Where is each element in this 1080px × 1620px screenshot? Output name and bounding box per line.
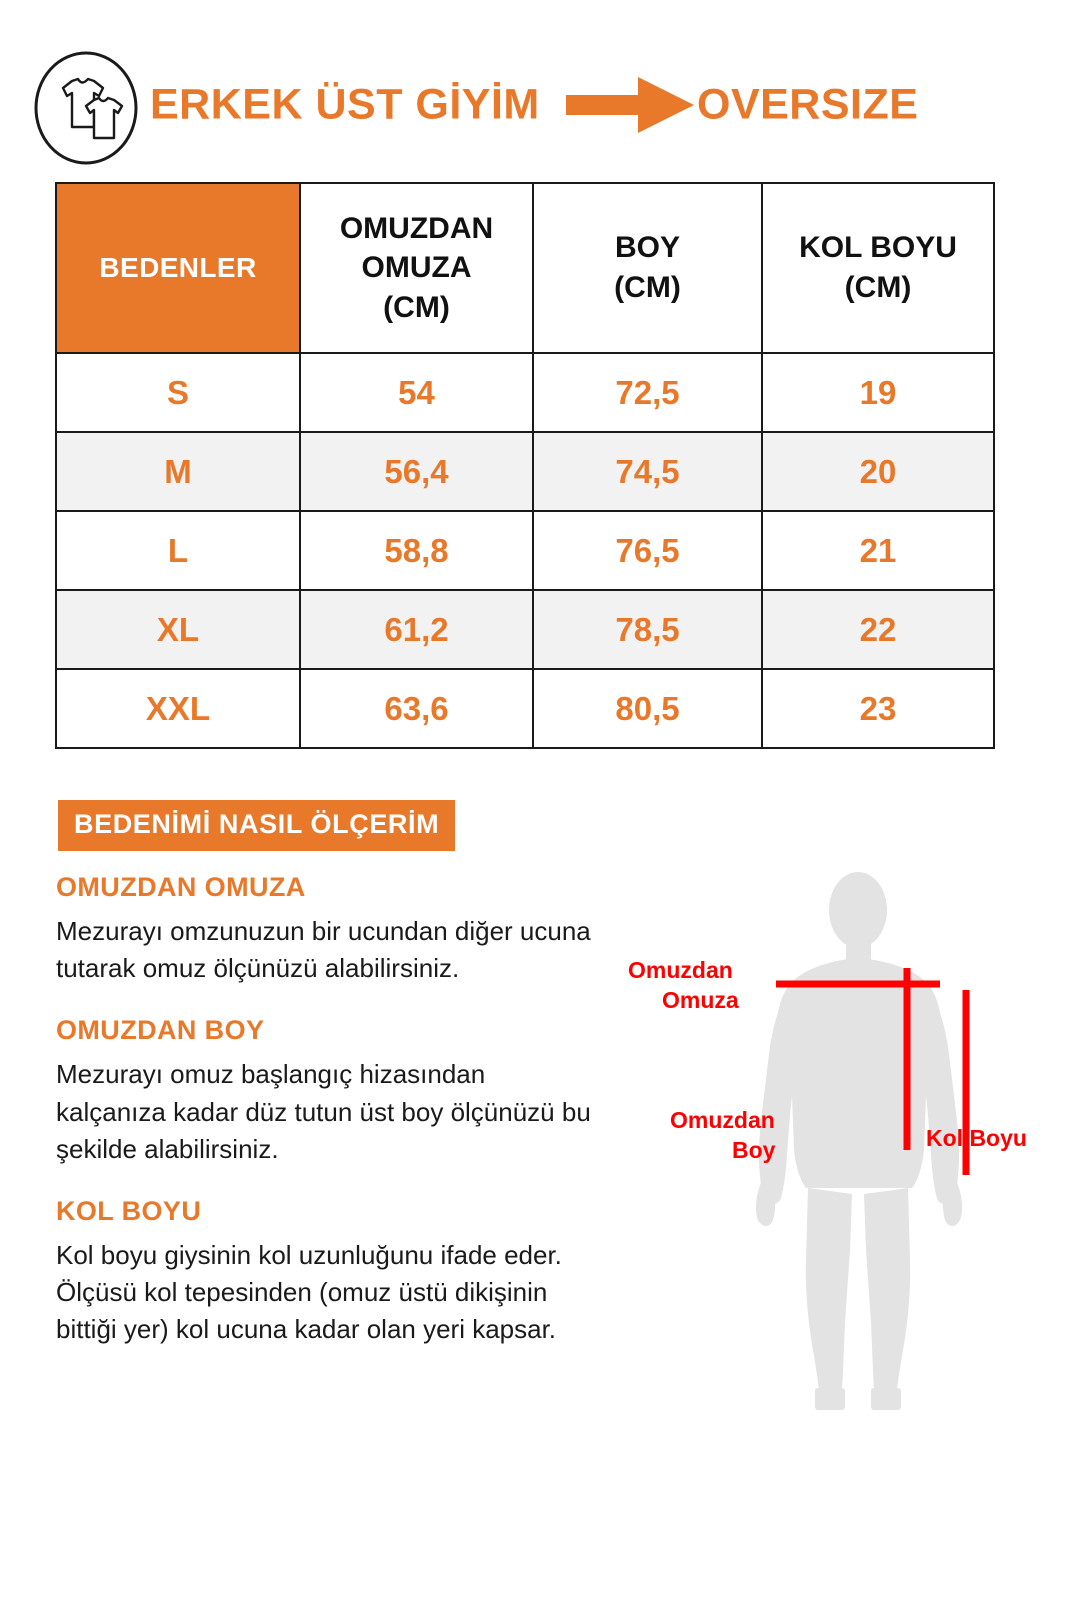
cell-length: 72,5	[533, 353, 762, 432]
table-row: XXL 63,6 80,5 23	[56, 669, 994, 748]
cell-shoulder: 58,8	[300, 511, 533, 590]
cell-sleeve: 21	[762, 511, 994, 590]
label-length-line1: Omuzdan	[670, 1107, 775, 1133]
page-title: ERKEK ÜST GİYİM	[150, 81, 540, 130]
cell-size: L	[56, 511, 300, 590]
page-subtitle: OVERSIZE	[697, 81, 918, 130]
cell-sleeve: 22	[762, 590, 994, 669]
cell-length: 76,5	[533, 511, 762, 590]
cell-shoulder: 61,2	[300, 590, 533, 669]
cell-length: 74,5	[533, 432, 762, 511]
two-tshirts-icon	[30, 48, 142, 168]
right-arrow-icon	[566, 75, 696, 135]
table-row: XL 61,2 78,5 22	[56, 590, 994, 669]
measure-body-length: Mezurayı omuz başlangıç hizasından kalça…	[56, 1056, 601, 1168]
column-header-shoulder-line2: OMUZA	[301, 248, 532, 288]
cell-sleeve: 19	[762, 353, 994, 432]
table-header-row: BEDENLER OMUZDAN OMUZA (CM) BOY (CM) KOL…	[56, 183, 994, 353]
column-header-shoulder-line1: OMUZDAN	[301, 209, 532, 249]
label-shoulder-line1: Omuzdan	[628, 957, 733, 983]
column-header-sizes: BEDENLER	[56, 183, 300, 353]
cell-shoulder: 56,4	[300, 432, 533, 511]
cell-sleeve: 20	[762, 432, 994, 511]
cell-size: S	[56, 353, 300, 432]
label-sleeve: Kol Boyu	[926, 1125, 1027, 1151]
table-row: S 54 72,5 19	[56, 353, 994, 432]
size-chart-table: BEDENLER OMUZDAN OMUZA (CM) BOY (CM) KOL…	[55, 182, 995, 749]
column-header-sleeve-line1: KOL BOYU	[763, 228, 993, 268]
measure-body-sleeve: Kol boyu giysinin kol uzunluğunu ifade e…	[56, 1237, 601, 1349]
measure-heading-length: OMUZDAN BOY	[56, 1015, 616, 1046]
cell-sleeve: 23	[762, 669, 994, 748]
label-shoulder-line2: Omuza	[662, 987, 739, 1013]
table-row: M 56,4 74,5 20	[56, 432, 994, 511]
cell-length: 80,5	[533, 669, 762, 748]
cell-size: XL	[56, 590, 300, 669]
page-header: ERKEK ÜST GİYİM OVERSIZE	[0, 40, 1080, 170]
column-header-length: BOY (CM)	[533, 183, 762, 353]
how-to-measure-sections: OMUZDAN OMUZA Mezurayı omzunuzun bir ucu…	[56, 872, 616, 1348]
cell-length: 78,5	[533, 590, 762, 669]
column-header-shoulder-unit: (CM)	[301, 288, 532, 328]
measure-heading-sleeve: KOL BOYU	[56, 1196, 616, 1227]
cell-shoulder: 63,6	[300, 669, 533, 748]
column-header-sizes-label: BEDENLER	[99, 252, 256, 283]
measure-body-shoulder: Mezurayı omzunuzun bir ucundan diğer ucu…	[56, 913, 601, 987]
how-to-measure-badge: BEDENİMİ NASIL ÖLÇERİM	[58, 800, 455, 851]
column-header-shoulder: OMUZDAN OMUZA (CM)	[300, 183, 533, 353]
column-header-length-unit: (CM)	[534, 268, 761, 308]
cell-size: XXL	[56, 669, 300, 748]
table-row: L 58,8 76,5 21	[56, 511, 994, 590]
cell-size: M	[56, 432, 300, 511]
measure-heading-shoulder: OMUZDAN OMUZA	[56, 872, 616, 903]
measurement-diagram: Omuzdan Omuza Omuzdan Boy Kol Boyu	[610, 850, 1050, 1430]
column-header-length-line1: BOY	[534, 228, 761, 268]
cell-shoulder: 54	[300, 353, 533, 432]
column-header-sleeve: KOL BOYU (CM)	[762, 183, 994, 353]
label-length-line2: Boy	[732, 1137, 776, 1163]
column-header-sleeve-unit: (CM)	[763, 268, 993, 308]
